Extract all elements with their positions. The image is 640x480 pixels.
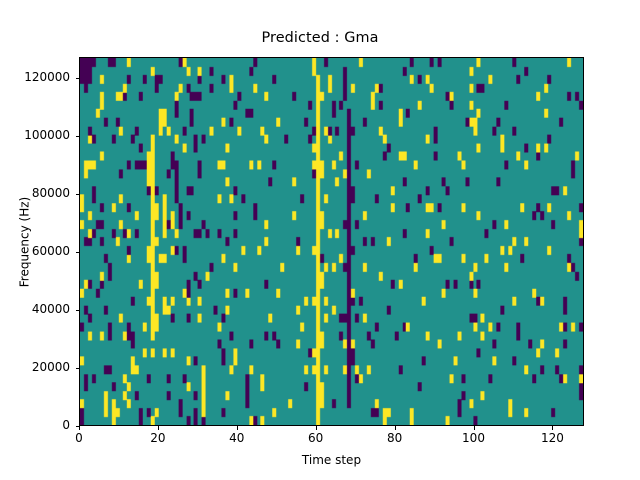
y-tick-label: 40000 [0, 302, 70, 316]
x-tick-label: 100 [444, 431, 504, 445]
x-tick-mark [552, 426, 553, 430]
x-tick-mark [316, 426, 317, 430]
matplotlib-figure: Predicted : Gma 020406080100120 02000040… [0, 0, 640, 480]
y-tick-mark [76, 252, 80, 253]
heatmap-canvas [80, 58, 583, 425]
y-tick-label: 120000 [0, 70, 70, 84]
x-tick-mark [237, 426, 238, 430]
y-tick-mark [76, 368, 80, 369]
x-tick-mark [474, 426, 475, 430]
y-tick-label: 0 [0, 418, 70, 432]
x-axis-label: Time step [79, 453, 584, 467]
y-tick-mark [76, 78, 80, 79]
x-tick-label: 0 [49, 431, 109, 445]
heatmap-axes [79, 57, 584, 426]
y-tick-mark [76, 136, 80, 137]
y-axis-label: Frequency (Hz) [18, 58, 32, 427]
chart-title: Predicted : Gma [0, 30, 640, 46]
x-tick-mark [158, 426, 159, 430]
x-tick-label: 60 [286, 431, 346, 445]
x-tick-label: 20 [128, 431, 188, 445]
y-tick-mark [76, 194, 80, 195]
y-tick-label: 20000 [0, 360, 70, 374]
x-tick-label: 120 [522, 431, 582, 445]
y-tick-mark [76, 310, 80, 311]
x-tick-mark [395, 426, 396, 430]
x-tick-mark [79, 426, 80, 430]
y-tick-mark [76, 426, 80, 427]
y-tick-label: 60000 [0, 244, 70, 258]
x-tick-label: 40 [207, 431, 267, 445]
y-tick-label: 100000 [0, 128, 70, 142]
x-tick-label: 80 [365, 431, 425, 445]
y-tick-label: 80000 [0, 186, 70, 200]
